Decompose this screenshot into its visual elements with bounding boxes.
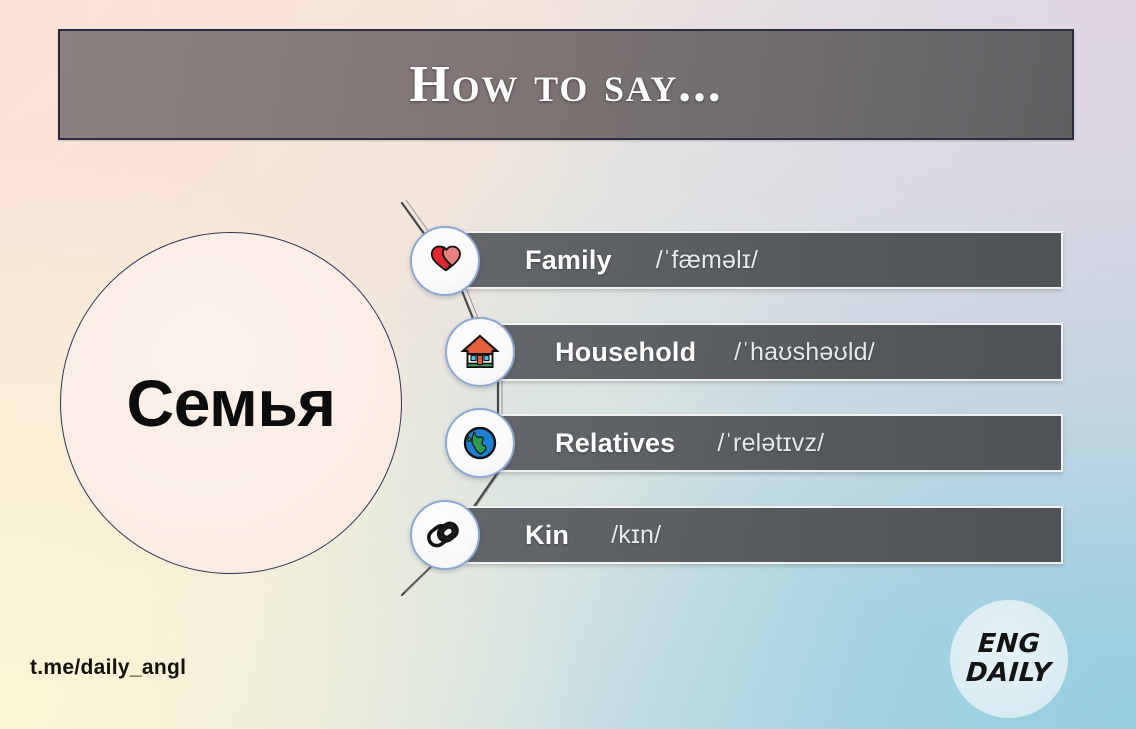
source-word-label: Семья	[127, 370, 336, 436]
house-icon	[445, 317, 515, 387]
translation-row[interactable]: Family /ˈfæməlɪ/	[465, 231, 1063, 289]
translation-ipa: /ˈrelətɪvz/	[717, 429, 824, 458]
translation-row[interactable]: Household /ˈhaʊshəʊld/	[500, 323, 1063, 381]
brand-logo-line-1: ENG	[977, 631, 1041, 658]
telegram-handle[interactable]: t.me/daily_angl	[30, 656, 186, 680]
translation-row[interactable]: Relatives /ˈrelətɪvz/	[500, 414, 1063, 472]
translation-ipa: /ˈfæməlɪ/	[656, 246, 758, 275]
translation-row[interactable]: Kin /kɪn/	[465, 506, 1063, 564]
brand-logo: ENG DAILY	[950, 600, 1068, 718]
translation-ipa: /kɪn/	[611, 521, 661, 550]
link-icon	[410, 500, 480, 570]
source-word-circle: Семья	[60, 232, 402, 574]
title-banner: How to say...	[58, 29, 1074, 140]
heart-icon	[410, 226, 480, 296]
brand-logo-line-2: DAILY	[965, 660, 1052, 687]
page-title: How to say...	[409, 55, 722, 114]
translation-word: Household	[555, 337, 696, 368]
translation-word: Family	[525, 245, 612, 276]
translation-word: Relatives	[555, 428, 675, 459]
translation-word: Kin	[525, 520, 569, 551]
slide-canvas: How to say... Семья Family /ˈfæməlɪ/	[0, 0, 1136, 729]
translation-ipa: /ˈhaʊshəʊld/	[734, 338, 875, 367]
globe-icon	[445, 408, 515, 478]
